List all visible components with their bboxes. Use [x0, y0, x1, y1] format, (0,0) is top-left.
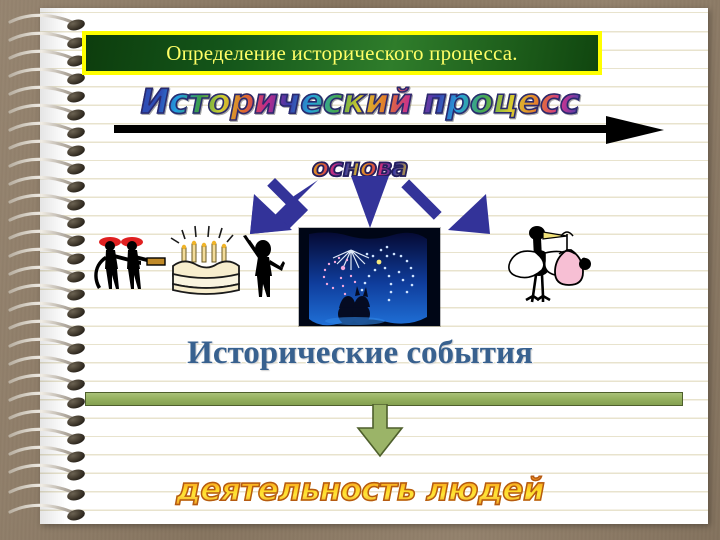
branch-arrow-right: [401, 179, 490, 234]
banner-title-text: Определение исторического процесса.: [166, 41, 518, 66]
birthday-cake-icon: [165, 224, 285, 300]
page-inner-shadow: [40, 8, 66, 524]
slide-canvas: Определение исторического процесса. Исто…: [0, 0, 720, 540]
title-banner: Определение исторического процесса.: [82, 31, 602, 75]
wordart-historical-events: Исторические события: [187, 335, 533, 372]
fireworks-icon: [299, 228, 440, 326]
horizontal-timeline-arrow: [114, 116, 664, 144]
wordart-people-activity: деятельность людей: [176, 472, 544, 508]
firefighters-icon: [93, 233, 173, 295]
summary-down-arrow: [354, 404, 406, 458]
branch-arrow-center: [351, 176, 389, 228]
stork-icon: [505, 220, 607, 306]
